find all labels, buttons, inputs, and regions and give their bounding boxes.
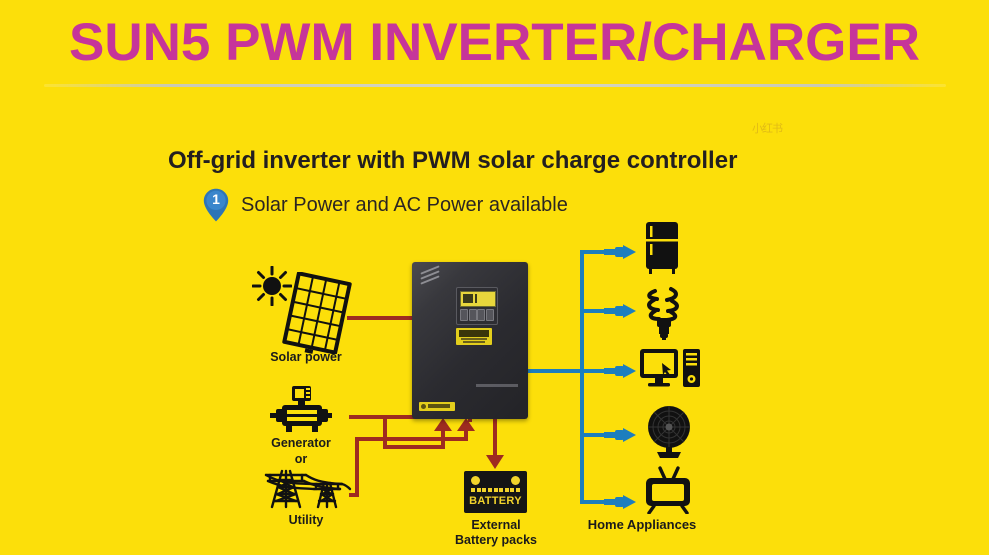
utility-tower-icon (260, 467, 352, 511)
inverter-control-panel (456, 287, 498, 325)
wire-generator-run (383, 445, 445, 449)
battery-terminal-positive (471, 476, 480, 485)
utility-label: Utility (256, 513, 356, 528)
arrow-up-utility (457, 418, 475, 434)
plug-connector-computer (604, 362, 636, 380)
battery-icon-text: BATTERY (464, 495, 527, 507)
battery-icon: BATTERY (464, 471, 527, 513)
wire-generator-vertical (383, 415, 387, 449)
wire-ac-bus-vertical (580, 250, 584, 504)
brand-sticker (456, 328, 492, 345)
solar-panel-icon (277, 272, 357, 354)
control-buttons[interactable] (460, 309, 494, 321)
arrow-up-generator (434, 418, 452, 434)
wire-utility-vertical (355, 437, 359, 497)
lcd-display (460, 291, 496, 307)
control-button-3[interactable] (477, 309, 485, 321)
home-appliances-label: Home Appliances (582, 517, 702, 532)
watermark: 小红书 (752, 120, 794, 142)
wire-ac-trunk (528, 369, 584, 373)
inverter-unit (412, 262, 528, 419)
inverter-fineprint (476, 384, 518, 387)
vent-slots-icon (420, 269, 442, 283)
or-label: or (251, 452, 351, 467)
page-title: SUN5 PWM INVERTER/CHARGER (0, 12, 989, 74)
wire-battery-vertical (493, 419, 497, 455)
solar-power-label: Solar power (254, 350, 358, 365)
arrow-down-battery (486, 452, 504, 469)
plug-connector-tv (604, 493, 636, 511)
wire-utility-run (355, 437, 468, 441)
plug-connector-cfl (604, 302, 636, 320)
refrigerator-icon (645, 222, 679, 274)
battery-terminal-negative (511, 476, 520, 485)
title-divider (44, 84, 946, 87)
plug-connector-fan (604, 426, 636, 444)
bullet-text: Solar Power and AC Power available (241, 194, 568, 217)
battery-cells (471, 488, 520, 492)
generator-label: Generator (251, 436, 351, 451)
control-button-2[interactable] (469, 309, 477, 321)
fan-icon (645, 405, 693, 459)
generator-icon (268, 386, 334, 434)
control-button-1[interactable] (460, 309, 468, 321)
bullet-number: 1 (203, 191, 229, 207)
battery-caption-line2: Battery packs (443, 533, 549, 548)
subtitle: Off-grid inverter with PWM solar charge … (168, 147, 737, 175)
control-button-4[interactable] (486, 309, 494, 321)
map-pin-icon: 1 (203, 188, 229, 222)
television-icon (640, 466, 696, 514)
battery-caption-line1: External (443, 518, 549, 533)
slide-canvas: SUN5 PWM INVERTER/CHARGER 小红书 Off-grid i… (0, 0, 989, 555)
cfl-bulb-icon (645, 285, 683, 341)
plug-connector-fridge (604, 243, 636, 261)
bullet-item-1: 1 Solar Power and AC Power available (203, 188, 568, 222)
inverter-rating-label (419, 402, 455, 411)
desktop-computer-icon (640, 349, 700, 394)
